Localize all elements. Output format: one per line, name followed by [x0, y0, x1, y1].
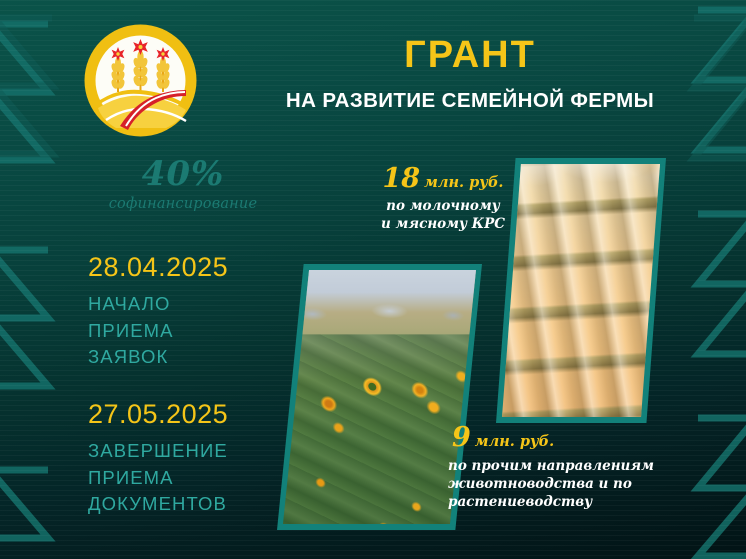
amount-callout-18: 18млн. руб. по молочному и мясному КРС — [368, 165, 518, 233]
milk-bottles-photo — [496, 158, 666, 423]
start-date-caption: НАЧАЛО ПРИЕМА ЗАЯВОК — [88, 291, 228, 371]
end-date-caption: ЗАВЕРШЕНИЕ ПРИЕМА ДОКУМЕНТОВ — [88, 438, 228, 518]
end-date-value: 27.05.2025 — [88, 400, 228, 430]
milk-photo-image — [502, 164, 660, 417]
end-date-line-1: ЗАВЕРШЕНИЕ — [88, 438, 228, 465]
date-block-start: 28.04.2025 НАЧАЛО ПРИЕМА ЗАЯВОК — [88, 253, 228, 371]
poster-title: ГРАНТ — [255, 36, 685, 76]
amount-9-unit: млн. руб. — [475, 433, 554, 450]
date-block-end: 27.05.2025 ЗАВЕРШЕНИЕ ПРИЕМА ДОКУМЕНТОВ — [88, 400, 228, 518]
amount-18-head: 18млн. руб. — [368, 165, 518, 192]
cofinancing-block: 40% софинансирование — [68, 157, 298, 212]
amount-9-desc-line-1: по прочим направлениям — [448, 457, 678, 475]
ministry-logo — [84, 24, 197, 137]
amount-18-unit: млн. руб. — [424, 174, 503, 191]
start-date-value: 28.04.2025 — [88, 253, 228, 283]
start-date-line-1: НАЧАЛО — [88, 291, 228, 318]
end-date-line-2: ПРИЕМА — [88, 465, 228, 492]
poster-subtitle: НА РАЗВИТИЕ СЕМЕЙНОЙ ФЕРМЫ — [255, 90, 685, 113]
cofinancing-percent: 40% — [68, 157, 298, 191]
cofinancing-label: софинансирование — [68, 196, 298, 212]
sunflower-photo-horizon — [283, 270, 476, 334]
milk-photo-inner — [502, 164, 660, 417]
amount-9-desc-line-2: животноводства и по — [448, 475, 678, 493]
poster-canvas: ГРАНТ НА РАЗВИТИЕ СЕМЕЙНОЙ ФЕРМЫ 40% соф… — [0, 0, 746, 559]
amount-18-desc-line-2: и мясному КРС — [368, 215, 518, 233]
title-block: ГРАНТ НА РАЗВИТИЕ СЕМЕЙНОЙ ФЕРМЫ — [255, 36, 685, 112]
amount-9-value: 9 — [452, 422, 471, 453]
amount-9-head: 9млн. руб. — [448, 424, 678, 451]
end-date-line-3: ДОКУМЕНТОВ — [88, 491, 228, 518]
start-date-line-2: ПРИЕМА — [88, 318, 228, 345]
amount-9-description: по прочим направлениям животноводства и … — [448, 457, 678, 512]
amount-9-desc-line-3: растениеводству — [448, 493, 678, 511]
amount-callout-9: 9млн. руб. по прочим направлениям животн… — [448, 424, 678, 512]
amount-18-desc-line-1: по молочному — [368, 197, 518, 215]
amount-18-description: по молочному и мясному КРС — [368, 197, 518, 233]
amount-18-value: 18 — [383, 163, 421, 194]
start-date-line-3: ЗАЯВОК — [88, 344, 228, 371]
